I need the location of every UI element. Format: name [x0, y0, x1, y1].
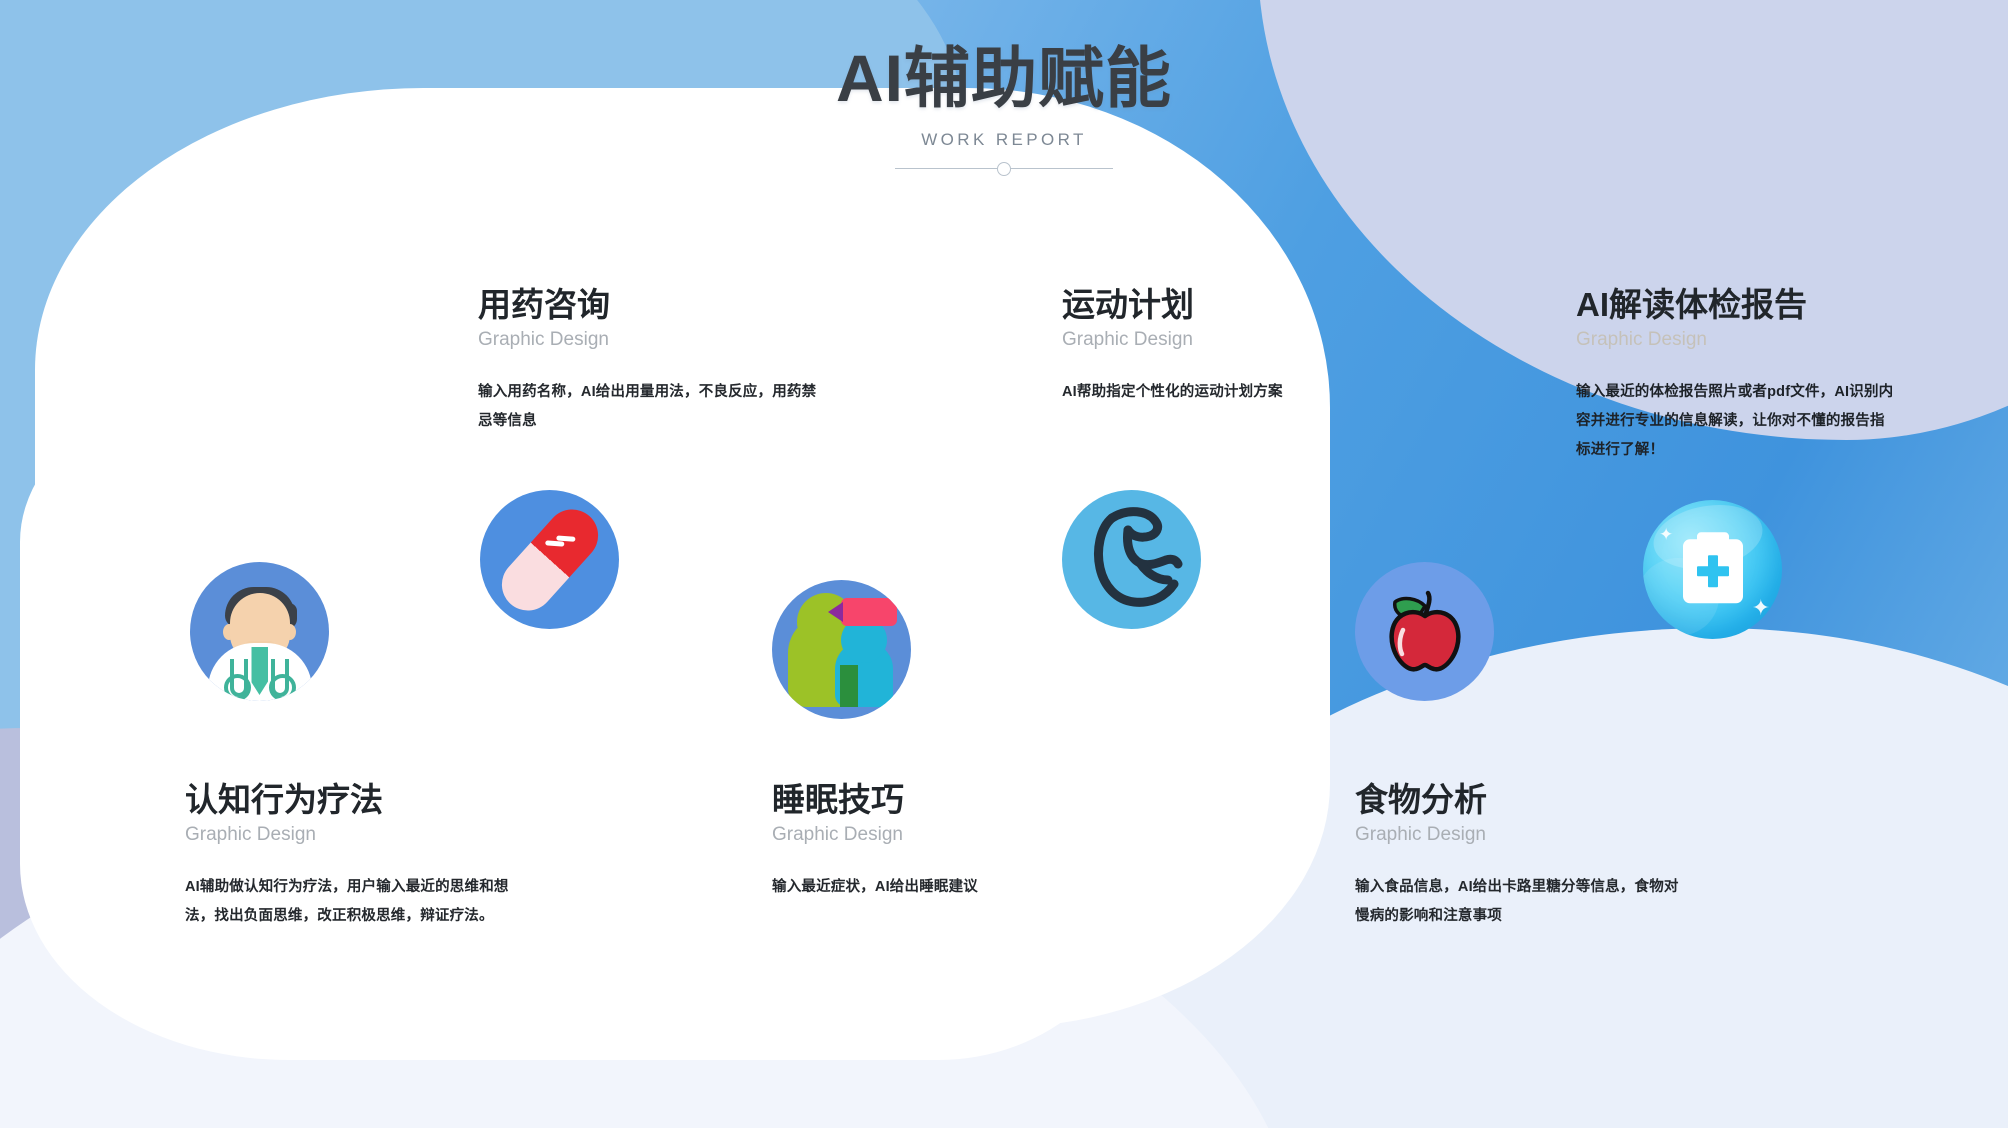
block-description: 输入用药名称，AI给出用量用法，不良反应，用药禁忌等信息: [478, 378, 828, 436]
apple-glyph: [1381, 586, 1469, 678]
capsule-glint-2: [545, 540, 564, 546]
block-subtitle: Graphic Design: [185, 824, 525, 847]
block-subtitle: Graphic Design: [1062, 329, 1362, 352]
pill-icon[interactable]: [480, 490, 619, 629]
apple-icon-circle: [1355, 562, 1494, 701]
clipboard-shape: [1683, 539, 1743, 603]
flexed-bicep-glyph: [1076, 506, 1188, 612]
doctor-icon[interactable]: [190, 562, 329, 701]
muscle-icon-circle: [1062, 490, 1201, 629]
block-food-analysis[interactable]: 食物分析 Graphic Design 输入食品信息，AI给出卡路里糖分等信息，…: [1355, 780, 1685, 931]
medical-report-sphere: ✦ ✦: [1643, 500, 1782, 639]
people-icon-circle: [772, 580, 911, 719]
page-title: AI辅助赋能: [0, 42, 2008, 116]
block-subtitle: Graphic Design: [772, 824, 1072, 847]
person-overlap-shade: [840, 665, 858, 707]
block-title: 食物分析: [1355, 780, 1685, 820]
stethoscope-bell-left: [224, 674, 251, 701]
block-description: 输入食品信息，AI给出卡路里糖分等信息，食物对慢病的影响和注意事项: [1355, 873, 1685, 931]
medical-cross-horizontal: [1697, 566, 1729, 576]
block-title: 睡眠技巧: [772, 780, 1072, 820]
block-subtitle: Graphic Design: [1355, 824, 1685, 847]
block-title: 用药咨询: [478, 285, 828, 325]
page-subtitle: WORK REPORT: [0, 130, 2008, 150]
block-title: AI解读体检报告: [1576, 285, 1896, 325]
block-cognitive-behavioral-therapy[interactable]: 认知行为疗法 Graphic Design AI辅助做认知行为疗法，用户输入最近…: [185, 780, 525, 931]
block-description: AI帮助指定个性化的运动计划方案: [1062, 378, 1362, 407]
block-description: AI辅助做认知行为疗法，用户输入最近的思维和想法，找出负面思维，改正积极思维，辩…: [185, 873, 525, 931]
people-talking-icon[interactable]: [772, 580, 911, 719]
block-title: 运动计划: [1062, 285, 1362, 325]
muscle-icon[interactable]: [1062, 490, 1201, 629]
sparkle-icon-1: ✦: [1659, 526, 1673, 543]
header-divider: [895, 162, 1113, 176]
medical-report-icon[interactable]: ✦ ✦: [1643, 500, 1782, 639]
block-title: 认知行为疗法: [185, 780, 525, 820]
sparkle-icon-2: ✦: [1752, 597, 1770, 619]
apple-icon[interactable]: [1355, 562, 1494, 701]
block-ai-health-report[interactable]: AI解读体检报告 Graphic Design 输入最近的体检报告照片或者pdf…: [1576, 285, 1896, 465]
block-exercise-plan[interactable]: 运动计划 Graphic Design AI帮助指定个性化的运动计划方案: [1062, 285, 1362, 407]
speech-bubble-icon: [841, 598, 897, 626]
page-header: AI辅助赋能 WORK REPORT: [0, 42, 2008, 176]
block-sleep-tips[interactable]: 睡眠技巧 Graphic Design 输入最近症状，AI给出睡眠建议: [772, 780, 1072, 902]
block-subtitle: Graphic Design: [1576, 329, 1896, 352]
block-medication-consult[interactable]: 用药咨询 Graphic Design 输入用药名称，AI给出用量用法，不良反应…: [478, 285, 828, 436]
block-description: 输入最近的体检报告照片或者pdf文件，AI识别内容并进行专业的信息解读，让你对不…: [1576, 378, 1896, 465]
divider-dot-icon: [997, 162, 1011, 176]
doctor-icon-circle: [190, 562, 329, 701]
capsule-shape: [491, 498, 609, 620]
block-description: 输入最近症状，AI给出睡眠建议: [772, 873, 1072, 902]
content-white-blob-lower: [20, 360, 1140, 1060]
stethoscope-bell-right: [269, 674, 296, 701]
clipboard-clip: [1697, 532, 1729, 546]
block-subtitle: Graphic Design: [478, 329, 828, 352]
pill-icon-circle: [480, 490, 619, 629]
